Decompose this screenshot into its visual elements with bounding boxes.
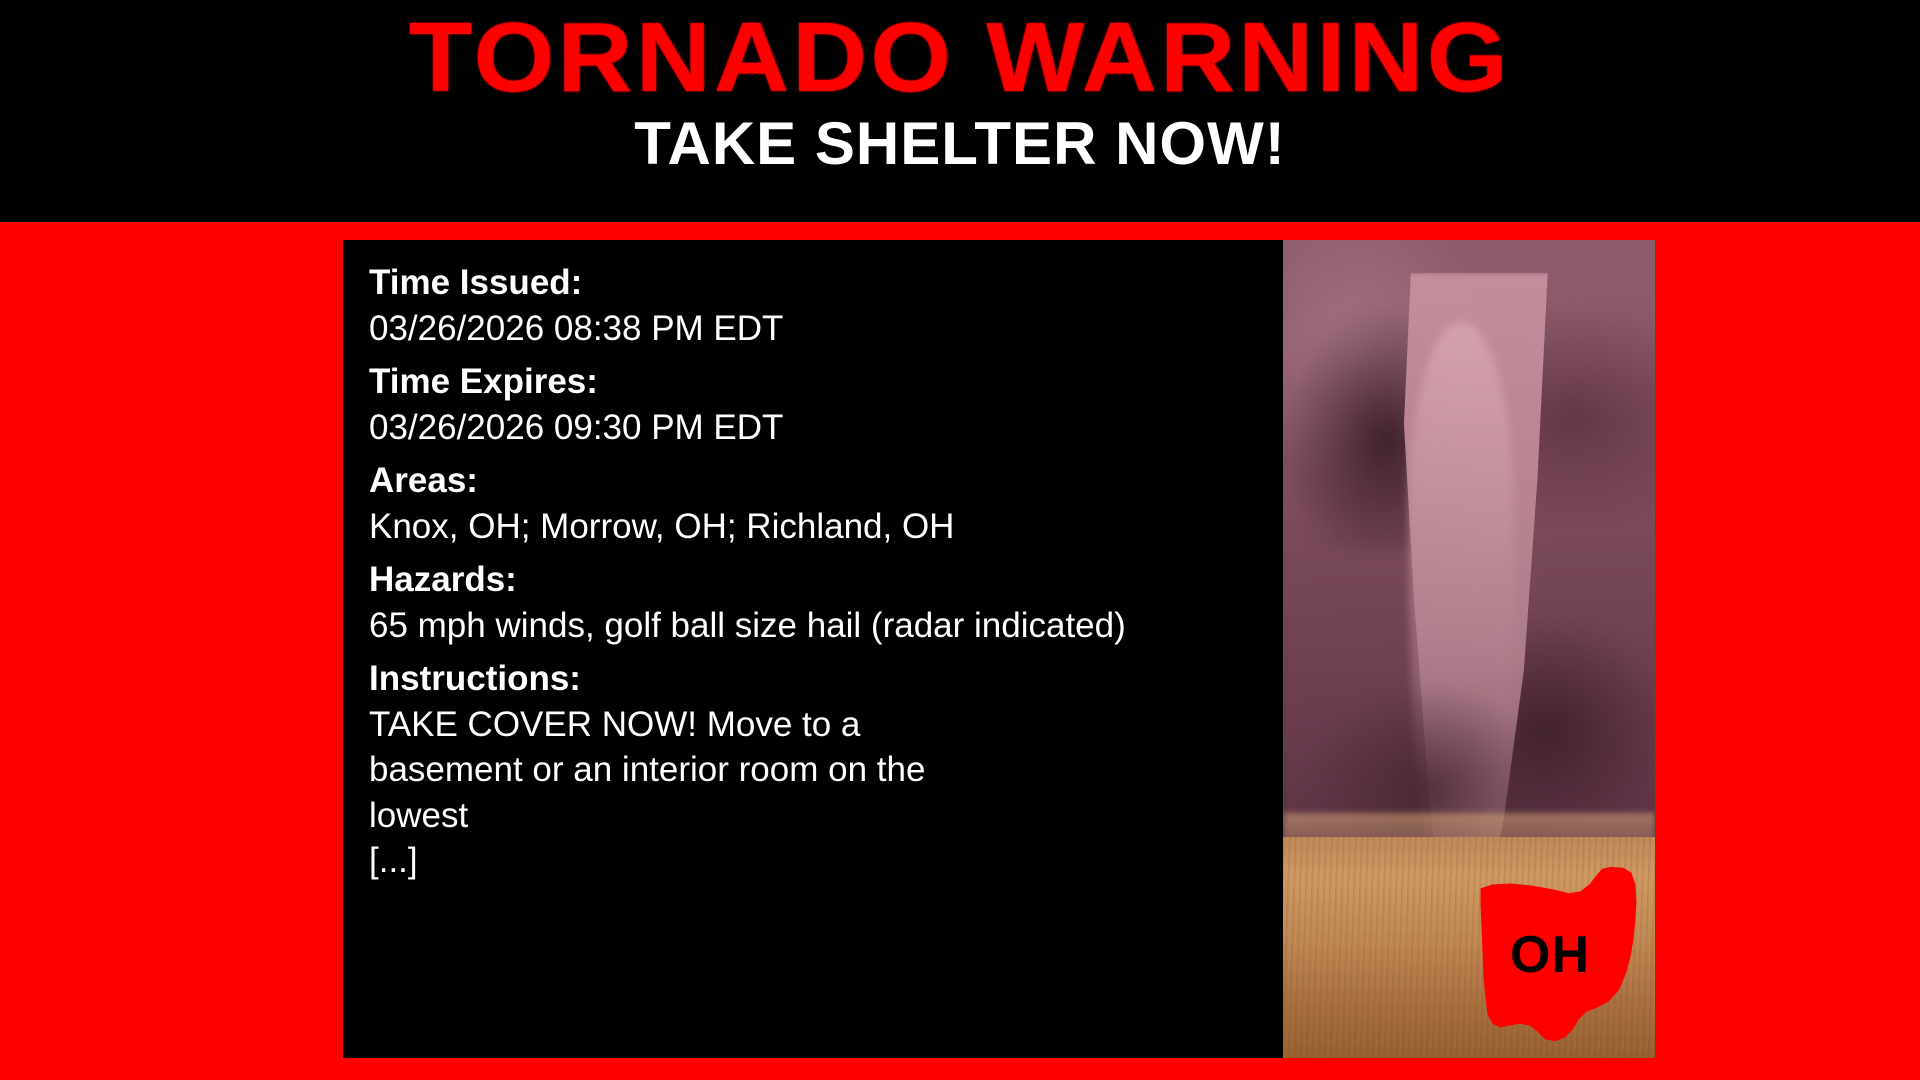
detail-areas: Areas: Knox, OH; Morrow, OH; Richland, O… xyxy=(369,458,1283,549)
detail-value: TAKE COVER NOW! Move to a basement or an… xyxy=(369,702,989,839)
detail-hazards: Hazards: 65 mph winds, golf ball size ha… xyxy=(369,557,1283,648)
detail-time-expires: Time Expires: 03/26/2026 09:30 PM EDT xyxy=(369,359,1283,450)
state-badge-ohio: OH xyxy=(1459,859,1655,1055)
detail-label: Areas: xyxy=(369,458,1283,504)
detail-label: Instructions: xyxy=(369,656,1283,702)
detail-value: 65 mph winds, golf ball size hail (radar… xyxy=(369,603,1129,649)
detail-label: Time Expires: xyxy=(369,359,1283,405)
tornado-photo: OH xyxy=(1283,240,1655,1058)
detail-value: 03/26/2026 09:30 PM EDT xyxy=(369,405,1229,451)
alert-subtitle: TAKE SHELTER NOW! xyxy=(634,114,1285,174)
detail-truncation-indicator: [...] xyxy=(369,838,1229,884)
detail-value: Knox, OH; Morrow, OH; Richland, OH xyxy=(369,504,1229,550)
alert-header-banner: TORNADO WARNING TAKE SHELTER NOW! xyxy=(0,0,1920,222)
detail-label: Hazards: xyxy=(369,557,1283,603)
alert-details-column: Time Issued: 03/26/2026 08:38 PM EDT Tim… xyxy=(343,240,1283,1058)
state-abbr-label-wrapper: OH xyxy=(1459,859,1655,1055)
state-abbr-label: OH xyxy=(1510,925,1590,985)
detail-instructions: Instructions: TAKE COVER NOW! Move to a … xyxy=(369,656,1283,884)
page-title: TORNADO WARNING xyxy=(409,8,1511,106)
detail-value: 03/26/2026 08:38 PM EDT xyxy=(369,306,1229,352)
alert-detail-card: Time Issued: 03/26/2026 08:38 PM EDT Tim… xyxy=(343,240,1655,1058)
alert-body-background: Time Issued: 03/26/2026 08:38 PM EDT Tim… xyxy=(0,222,1920,1080)
detail-time-issued: Time Issued: 03/26/2026 08:38 PM EDT xyxy=(369,260,1283,351)
detail-label: Time Issued: xyxy=(369,260,1283,306)
